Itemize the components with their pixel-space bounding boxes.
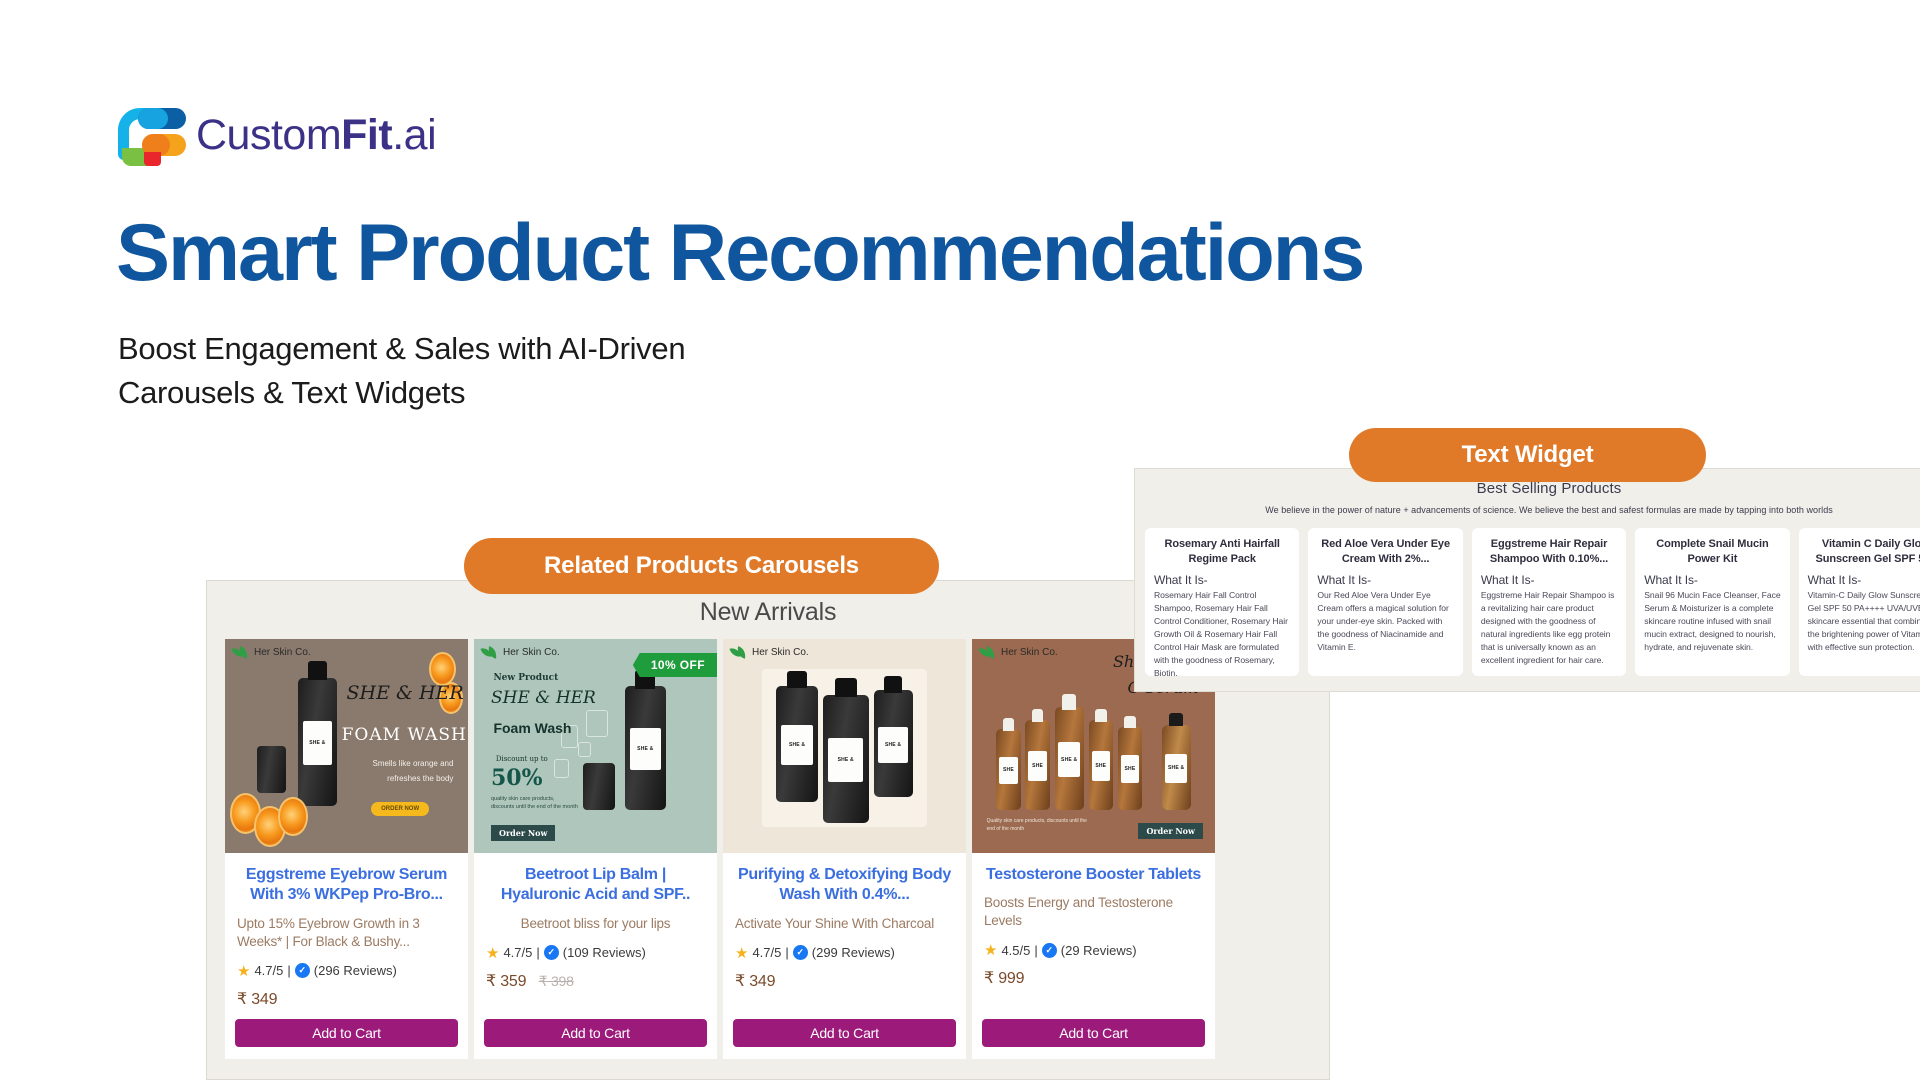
rating-separator: | [1034,943,1037,958]
page-title: Smart Product Recommendations [116,212,1363,295]
discount-badge: 10% OFF [633,653,717,677]
rating-separator: | [287,963,290,978]
bottle-cap-loose-shape [257,746,286,793]
spray-cap-shape [1062,694,1076,709]
bottle-label: SHE & [303,721,333,765]
text-widget-card-label: What It Is- [1481,573,1617,587]
spray-cap-shape [1032,709,1044,722]
bottle-label: SHE & [828,738,863,782]
text-widget-card-label: What It Is- [1644,573,1780,587]
price-current: ₹ 349 [735,973,775,990]
text-widget-subtitle: We believe in the power of nature + adva… [1135,497,1920,515]
star-icon: ★ [984,941,997,959]
logo-teal-shape [138,108,168,129]
verified-badge-icon: ✓ [1042,943,1057,958]
brand-name: Her Skin Co. [752,647,809,658]
customfit-logo: CustomFit.ai [118,104,436,166]
image-tagline-2: refreshes the body [387,774,453,783]
product-image-art: SHE & SHE & SHE & [723,639,966,853]
product-price: ₹ 349 [735,971,954,991]
product-image-art: SHE & New Product SHE & HER Foam Wash Di… [474,639,717,853]
text-widget-card[interactable]: Red Aloe Vera Under Eye Cream With 2%...… [1308,528,1462,676]
product-price: ₹ 359 ₹ 398 [486,971,705,991]
logo-word-ai: .ai [392,111,436,159]
bottle-shape: SHE & [874,690,913,797]
bottle-label: SHE [1028,751,1046,782]
image-caps-headline: FOAM WASH [342,725,467,745]
bottle-cap-shape [884,676,903,692]
page-subtitle-line-2: Carousels & Text Widgets [118,371,685,415]
dropper-cap-shape [1169,713,1183,726]
star-icon: ★ [486,944,499,962]
review-count: (109 Reviews) [563,945,646,960]
text-widget-card-title: Rosemary Anti Hairfall Regime Pack [1154,537,1290,566]
review-count: (29 Reviews) [1061,943,1137,958]
text-widget-card-title: Complete Snail Mucin Power Kit [1644,537,1780,566]
product-card[interactable]: SHE & New Product SHE & HER Foam Wash Di… [474,639,717,1059]
price-current: ₹ 999 [984,970,1024,987]
page-subtitle-line-1: Boost Engagement & Sales with AI-Driven [118,327,685,371]
serum-bottle-shape: SHE [1118,727,1142,810]
text-widget-card-body: Vitamin-C Daily Glow Sunscreen Gel SPF 5… [1808,589,1920,653]
add-to-cart-button[interactable]: Add to Cart [982,1019,1205,1047]
verified-badge-icon: ✓ [544,945,559,960]
image-caps-headline: Foam Wash [493,720,571,736]
bottle-shape: SHE & [823,695,869,823]
product-price: ₹ 999 [984,968,1203,988]
bottle-label: SHE & [878,727,908,763]
spray-cap-shape [1124,716,1136,729]
product-body: Purifying & Detoxifying Body Wash With 0… [723,853,966,1009]
image-discount-value: 50% [491,765,543,791]
add-to-cart-button[interactable]: Add to Cart [733,1019,956,1047]
image-blurb: Quality skin care products, discounts un… [987,817,1096,833]
image-order-now-button[interactable]: Order Now [1138,823,1202,839]
bottle-cap-shape [787,671,807,688]
price-current: ₹ 349 [237,991,277,1008]
product-description: Boosts Energy and Testosterone Levels [984,894,1203,930]
verified-badge-icon: ✓ [295,963,310,978]
text-widget-card-label: What It Is- [1154,573,1290,587]
leaf-icon [482,646,498,658]
logo-word-custom: Custom [196,111,341,159]
brand-name: Her Skin Co. [503,647,560,658]
rating-value: 4.7/5 [254,963,283,978]
bottle-cap-shape [835,678,857,697]
bottle-label: SHE & [781,725,812,764]
leaf-icon [980,646,996,658]
price-original: ₹ 398 [539,973,574,989]
bottle-cap-loose-shape [583,763,615,810]
decorative-square [578,742,590,757]
image-tagline-1: Smells like orange and [372,759,453,768]
image-discount-label: Discount up to [496,755,548,763]
product-card[interactable]: SHE & SHE & SHE & Her Skin Co. [723,639,966,1059]
star-icon: ★ [237,962,250,980]
bottle-label: SHE & [630,728,661,770]
bottle-cap-shape [308,661,327,680]
bottle-label: SHE & [1058,742,1080,777]
logo-mark-icon [118,104,186,166]
product-image-art: SHE & SHE & HER FOAM WASH Smells like or… [225,639,468,853]
review-count: (299 Reviews) [812,945,895,960]
text-widget-card-body: Eggstreme Hair Repair Shampoo is a revit… [1481,589,1617,666]
image-order-now-button[interactable]: ORDER NOW [371,802,429,816]
product-body: Testosterone Booster Tablets Boosts Ener… [972,853,1215,1009]
product-description: Activate Your Shine With Charcoal [735,915,954,933]
bottle-shape: SHE & [298,678,337,806]
spray-cap-shape [1095,709,1107,722]
product-rating: ★ 4.7/5 | ✓ (109 Reviews) [486,944,705,962]
related-products-carousels-badge: Related Products Carousels [464,538,939,594]
leaf-icon [233,646,249,658]
product-image: SHE & New Product SHE & HER Foam Wash Di… [474,639,717,853]
text-widget-card[interactable]: Vitamin C Daily Glow Sunscreen Gel SPF 5… [1799,528,1920,676]
text-widget-card-title: Vitamin C Daily Glow Sunscreen Gel SPF 5… [1808,537,1920,566]
serum-bottle-shape: SHE & [1055,707,1084,810]
product-title: Eggstreme Eyebrow Serum With 3% WKPep Pr… [237,865,456,906]
text-widget-card-body: Snail 96 Mucin Face Cleanser, Face Serum… [1644,589,1780,653]
product-rating: ★ 4.7/5 | ✓ (296 Reviews) [237,962,456,980]
slide-root: CustomFit.ai Smart Product Recommendatio… [0,0,1920,1080]
leaf-icon [731,646,747,658]
product-description: Upto 15% Eyebrow Growth in 3 Weeks* | Fo… [237,915,456,951]
product-card[interactable]: SHE & SHE & HER FOAM WASH Smells like or… [225,639,468,1059]
page-subtitle: Boost Engagement & Sales with AI-Driven … [118,327,685,416]
text-widget-card-label: What It Is- [1808,573,1920,587]
product-description: Beetroot bliss for your lips [486,915,705,933]
text-widget-card-label: What It Is- [1317,573,1453,587]
text-widget-card-body: Our Red Aloe Vera Under Eye Cream offers… [1317,589,1453,653]
text-widget-card-title: Eggstreme Hair Repair Shampoo With 0.10%… [1481,537,1617,566]
review-count: (296 Reviews) [314,963,397,978]
rating-value: 4.5/5 [1001,943,1030,958]
logo-word-fit: Fit [341,111,392,159]
product-image: SHE & SHE & HER FOAM WASH Smells like or… [225,639,468,853]
spray-cap-shape [1003,718,1015,730]
serum-bottle-shape: SHE [1025,720,1049,810]
product-title: Beetroot Lip Balm | Hyaluronic Acid and … [486,865,705,906]
brand-tag: Her Skin Co. [980,646,1058,658]
rating-separator: | [536,945,539,960]
star-icon: ★ [735,944,748,962]
image-blurb: quality skin care products, discounts un… [491,795,578,812]
serum-bottle-shape: SHE [996,729,1020,810]
logo-wordmark: CustomFit.ai [196,111,436,160]
image-eyebrow: New Product [493,673,558,683]
bottle-shape: SHE & [625,686,666,810]
dropper-bottle-shape: SHE & [1162,725,1191,811]
bottle-label: SHE [1092,751,1110,782]
add-to-cart-button[interactable]: Add to Cart [484,1019,707,1047]
product-image: SHE & SHE & SHE & Her Skin Co. [723,639,966,853]
serum-bottle-shape: SHE [1089,720,1113,810]
product-rating: ★ 4.5/5 | ✓ (29 Reviews) [984,941,1203,959]
brand-name: Her Skin Co. [254,647,311,658]
brand-tag: Her Skin Co. [233,646,311,658]
product-rating: ★ 4.7/5 | ✓ (299 Reviews) [735,944,954,962]
image-order-now-button[interactable]: Order Now [491,825,555,841]
product-card[interactable]: SHE SHE SHE & SHE [972,639,1215,1059]
orange-slice-shape [278,797,307,836]
text-widget-card[interactable]: Rosemary Anti Hairfall Regime Pack What … [1145,528,1299,676]
logo-red-shape [144,152,161,166]
brand-tag: Her Skin Co. [482,646,560,658]
price-current: ₹ 359 [486,973,526,990]
bottle-shape: SHE & [776,686,817,802]
add-to-cart-button[interactable]: Add to Cart [235,1019,458,1047]
bottle-label: SHE [999,757,1017,785]
bottle-label: SHE & [1165,754,1187,783]
product-title: Testosterone Booster Tablets [984,865,1203,885]
brand-name: Her Skin Co. [1001,647,1058,658]
bottle-label: SHE [1121,755,1139,783]
brand-tag: Her Skin Co. [731,646,809,658]
decorative-square [554,759,569,778]
text-widget-card-list: Rosemary Anti Hairfall Regime Pack What … [1135,515,1920,676]
product-title: Purifying & Detoxifying Body Wash With 0… [735,865,954,906]
text-widget-card[interactable]: Complete Snail Mucin Power Kit What It I… [1635,528,1789,676]
text-widget-card-title: Red Aloe Vera Under Eye Cream With 2%... [1317,537,1453,566]
text-widget-panel: Best Selling Products We believe in the … [1134,468,1920,692]
image-script-headline: SHE & HER [347,682,464,704]
product-price: ₹ 349 [237,989,456,1009]
text-widget-badge: Text Widget [1349,428,1706,482]
verified-badge-icon: ✓ [793,945,808,960]
product-body: Beetroot Lip Balm | Hyaluronic Acid and … [474,853,717,1009]
rating-value: 4.7/5 [752,945,781,960]
image-script-headline: SHE & HER [491,688,596,708]
product-body: Eggstreme Eyebrow Serum With 3% WKPep Pr… [225,853,468,1009]
text-widget-card-body: Rosemary Hair Fall Control Shampoo, Rose… [1154,589,1290,676]
text-widget-card[interactable]: Eggstreme Hair Repair Shampoo With 0.10%… [1472,528,1626,676]
rating-separator: | [785,945,788,960]
rating-value: 4.7/5 [503,945,532,960]
decorative-square [586,710,608,738]
